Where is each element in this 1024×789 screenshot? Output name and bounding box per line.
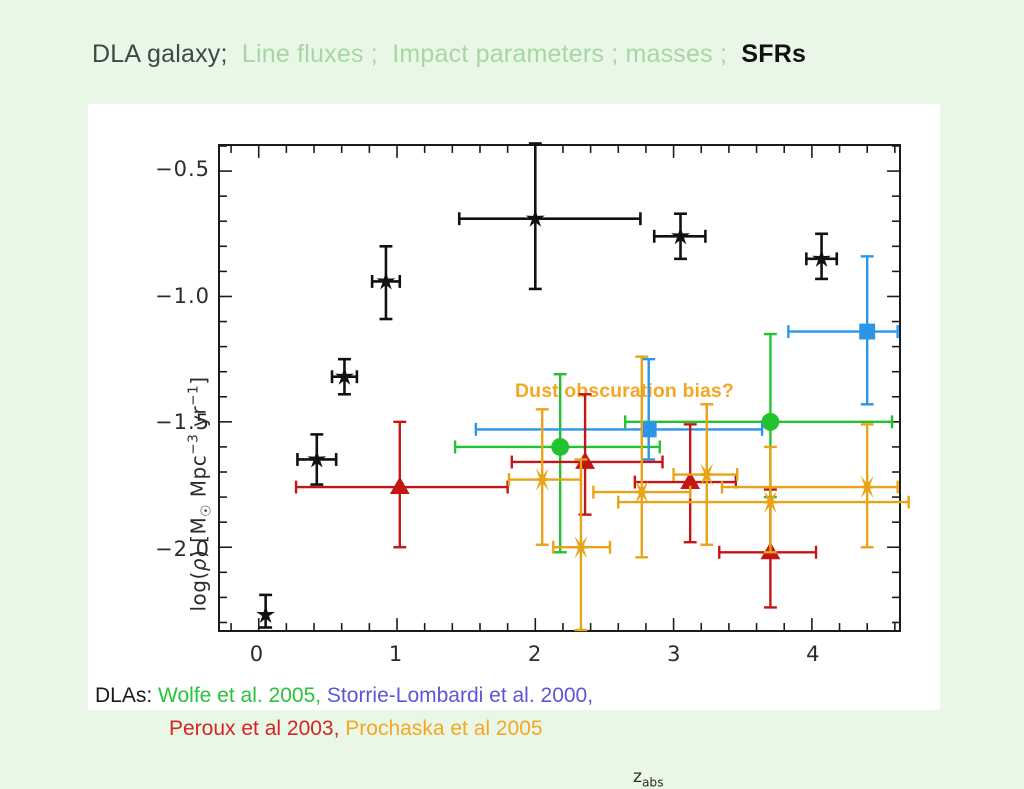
data-point[interactable] <box>372 246 400 319</box>
data-point[interactable] <box>635 424 736 542</box>
caption-reference-1: Storrie-Lombardi et al. 2000 <box>327 684 587 707</box>
series-0 <box>256 143 837 627</box>
caption-separator: , <box>587 684 593 707</box>
data-point[interactable] <box>625 334 892 497</box>
marker-circle <box>551 438 569 456</box>
series-4 <box>509 357 909 630</box>
scatter-plot-canvas <box>220 146 899 630</box>
x-tick-label: 1 <box>389 642 403 666</box>
figure-panel: −0.5−1.0−1.5−2.0 log(ρ) [M☉ Mpc−3 yr−1] … <box>88 104 940 710</box>
caption-line-1: DLAs: Wolfe et al. 2005, Storrie-Lombard… <box>95 679 593 712</box>
caption-line-2: Peroux et al 2003, Prochaska et al 2005 <box>95 712 593 745</box>
y-tick-label: −1.0 <box>146 284 210 308</box>
y-tick-label: −0.5 <box>146 157 210 181</box>
title-segment-2: Impact parameters ; masses ; <box>392 40 727 68</box>
series-1 <box>455 334 892 552</box>
data-point[interactable] <box>296 422 508 547</box>
x-tick-label: 4 <box>806 642 820 666</box>
series-2 <box>476 256 898 459</box>
data-point[interactable] <box>788 256 897 404</box>
x-tick-label: 3 <box>667 642 681 666</box>
data-point[interactable] <box>332 359 357 394</box>
data-point[interactable] <box>593 357 690 558</box>
title-segment-3: SFRs <box>741 40 806 68</box>
x-tick-label: 2 <box>528 642 542 666</box>
data-point[interactable] <box>806 234 836 279</box>
data-point[interactable] <box>553 459 610 630</box>
plot-axes-frame <box>218 144 901 632</box>
caption-separator: , <box>315 684 327 707</box>
marker-square <box>859 324 875 340</box>
page-title: DLA galaxy; Line fluxes ; Impact paramet… <box>92 40 806 69</box>
marker-square <box>641 421 657 437</box>
title-segment-1: Line fluxes ; <box>242 40 378 68</box>
title-segment-0: DLA galaxy; <box>92 40 228 68</box>
data-point[interactable] <box>455 374 660 552</box>
data-point[interactable] <box>297 434 336 484</box>
marker-triangle <box>390 477 410 494</box>
data-point[interactable] <box>654 214 705 259</box>
x-tick-label: 0 <box>250 642 264 666</box>
series-3 <box>296 394 816 607</box>
data-point[interactable] <box>674 404 738 544</box>
data-point[interactable] <box>459 143 640 288</box>
x-axis-label: zabs <box>633 767 664 789</box>
caption-separator: , <box>334 717 346 740</box>
caption: DLAs: Wolfe et al. 2005, Storrie-Lombard… <box>95 679 593 745</box>
caption-reference-0: Wolfe et al. 2005 <box>158 684 315 707</box>
caption-reference-2: Peroux et al 2003 <box>169 717 334 740</box>
caption-label: DLAs: <box>95 684 158 707</box>
data-point[interactable] <box>476 359 762 459</box>
y-axis-label: log(ρ) [M☉ Mpc−3 yr−1] <box>186 376 215 611</box>
data-point[interactable] <box>722 424 898 547</box>
marker-circle <box>761 413 779 431</box>
caption-reference-3: Prochaska et al 2005 <box>345 717 542 740</box>
